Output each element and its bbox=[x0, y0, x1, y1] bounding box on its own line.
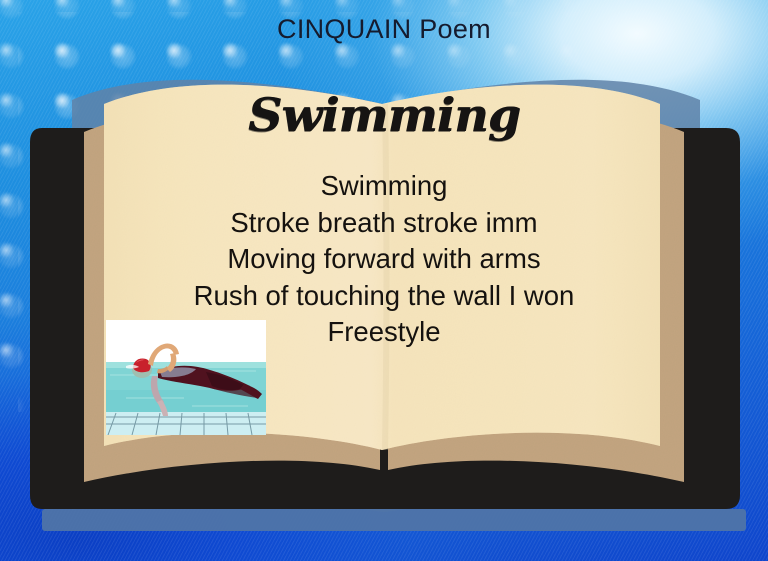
book-base-shadow-strip bbox=[42, 509, 746, 531]
poem-line-4: Rush of touching the wall I won bbox=[0, 278, 768, 315]
poem-heading: Swimming bbox=[0, 88, 768, 142]
swimmer-illustration bbox=[106, 320, 266, 435]
poem-line-1: Swimming bbox=[0, 168, 768, 205]
page-title: CINQUAIN Poem bbox=[0, 14, 768, 45]
poem-line-2: Stroke breath stroke imm bbox=[0, 205, 768, 242]
poem-line-3: Moving forward with arms bbox=[0, 241, 768, 278]
slide-canvas: CINQUAIN Poem bbox=[0, 0, 768, 561]
